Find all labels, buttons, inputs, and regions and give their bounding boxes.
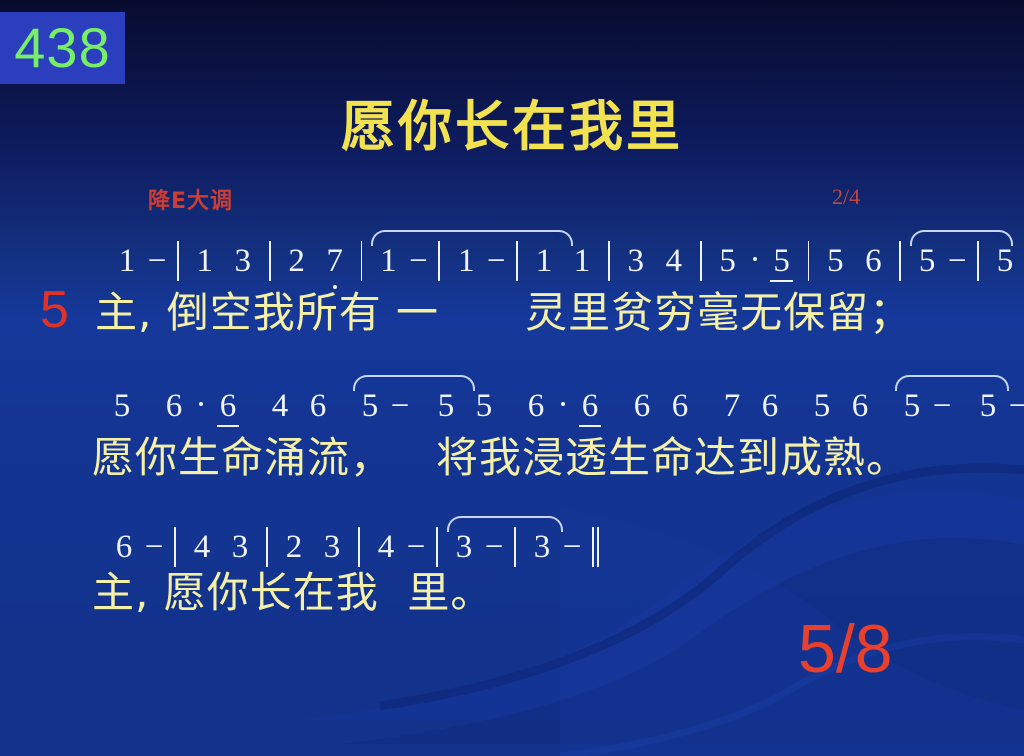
note-sustain-dash: −: [483, 529, 505, 566]
barline: [608, 241, 610, 281]
hymn-number-text: 438: [14, 20, 110, 76]
barline: [899, 241, 901, 281]
note-sustain-dash: −: [931, 388, 953, 425]
note: 3: [621, 243, 651, 280]
note: 3: [527, 529, 557, 566]
note: 5: [973, 388, 1003, 425]
note: 5: [713, 243, 743, 280]
note: 3: [225, 529, 255, 566]
barline: [361, 241, 363, 281]
note: 6: [858, 243, 888, 280]
note: 5: [990, 243, 1020, 280]
note: 6: [755, 388, 785, 425]
measure: 6−: [105, 529, 167, 566]
measure: 55: [427, 388, 503, 425]
note: 7: [717, 388, 747, 425]
notation-line-2: 566465−55666676565−5−: [0, 377, 1024, 435]
note: 6: [845, 388, 875, 425]
barline: [436, 527, 438, 567]
measure: 76: [713, 388, 789, 425]
note: 2: [282, 243, 312, 280]
measure: 56: [816, 243, 892, 280]
measure: 27: [278, 243, 354, 280]
note: 1: [529, 243, 559, 280]
lyric-line-2: 愿你生命涌流， 将我浸透生命达到成熟。: [92, 437, 909, 479]
measure: 55: [709, 243, 801, 280]
measure: 4−: [367, 529, 429, 566]
augmentation-dot: [561, 402, 565, 406]
key-signature-label: 降E大调: [148, 183, 233, 215]
note: 5: [431, 388, 461, 425]
note: 5: [897, 388, 927, 425]
note: 2: [279, 529, 309, 566]
measure: 66: [517, 388, 609, 425]
note: 1: [373, 243, 403, 280]
note: 3: [449, 529, 479, 566]
barline: [269, 241, 271, 281]
note: 5: [820, 243, 850, 280]
note-sustain-dash: −: [561, 529, 583, 566]
note: 5: [107, 388, 137, 425]
lyric-line-3: 主, 愿你长在我 里。: [92, 572, 493, 614]
measure: 34: [617, 243, 693, 280]
note: 5: [767, 243, 797, 280]
note: 4: [371, 529, 401, 566]
page-title: 愿你长在我里: [0, 100, 1024, 154]
note-sustain-dash: −: [485, 243, 507, 280]
barline: [266, 527, 268, 567]
measure: 5−: [969, 388, 1024, 425]
verse-number: 5: [40, 284, 69, 336]
barline: [516, 241, 518, 281]
measure: 11: [525, 243, 601, 280]
barline: [358, 527, 360, 567]
note-sustain-dash: −: [405, 529, 427, 566]
lyric-line-1: 主, 倒空我所有 一 灵里贫穷毫无保留；: [95, 292, 912, 334]
measure: 66: [155, 388, 247, 425]
final-barline: [592, 527, 594, 567]
note: 4: [265, 388, 295, 425]
note: 1: [567, 243, 597, 280]
note: 3: [228, 243, 258, 280]
note: 1: [190, 243, 220, 280]
note: 6: [575, 388, 605, 425]
note: 5: [807, 388, 837, 425]
augmentation-dot: [753, 257, 757, 261]
note: 6: [665, 388, 695, 425]
barline: [438, 241, 440, 281]
note-sustain-dash: −: [389, 388, 411, 425]
note: 4: [187, 529, 217, 566]
measure: 13: [186, 243, 262, 280]
note: 6: [627, 388, 657, 425]
notation-line-1-measures: 1−13271−1−113455565−5: [108, 232, 1024, 290]
note: 6: [303, 388, 333, 425]
barline: [514, 527, 516, 567]
note: 5: [912, 243, 942, 280]
notation-line-1: 1−13271−1−113455565−5: [0, 232, 1024, 290]
hymn-number-badge: 438: [0, 12, 125, 84]
note: 1: [451, 243, 481, 280]
notation-line-2-measures: 566465−55666676565−5−: [103, 377, 1024, 435]
barline: [808, 241, 810, 281]
time-signature-label: 2/4: [832, 184, 860, 210]
note: 3: [317, 529, 347, 566]
measure: 3−: [523, 529, 585, 566]
hymn-slide: 438 愿你长在我里 降E大调 2/4 5 1−13271−1−11345556…: [0, 0, 1024, 756]
note-sustain-dash: −: [407, 243, 429, 280]
barline: [700, 241, 702, 281]
measure: 1−: [108, 243, 170, 280]
note: 4: [659, 243, 689, 280]
measure: 1−: [369, 243, 431, 280]
measure: 5−: [908, 243, 970, 280]
note: 5: [469, 388, 499, 425]
measure: 23: [275, 529, 351, 566]
measure: 5: [986, 243, 1024, 280]
note-sustain-dash: −: [946, 243, 968, 280]
note-sustain-dash: −: [143, 529, 165, 566]
note: 6: [521, 388, 551, 425]
measure: 46: [261, 388, 337, 425]
note: 6: [109, 529, 139, 566]
page-indicator: 5/8: [798, 615, 893, 683]
note: 7: [320, 243, 350, 280]
barline: [977, 241, 979, 281]
note: 1: [112, 243, 142, 280]
measure: 43: [183, 529, 259, 566]
note: 6: [159, 388, 189, 425]
measure: 3−: [445, 529, 507, 566]
note-sustain-dash: −: [1007, 388, 1024, 425]
note: 6: [213, 388, 243, 425]
measure: 5−: [351, 388, 413, 425]
barline: [177, 241, 179, 281]
barline: [174, 527, 176, 567]
measure: 56: [803, 388, 879, 425]
augmentation-dot: [199, 402, 203, 406]
measure: 1−: [447, 243, 509, 280]
note-sustain-dash: −: [146, 243, 168, 280]
measure: 5: [103, 388, 141, 425]
note: 5: [355, 388, 385, 425]
measure: 66: [623, 388, 699, 425]
measure: 5−: [893, 388, 955, 425]
